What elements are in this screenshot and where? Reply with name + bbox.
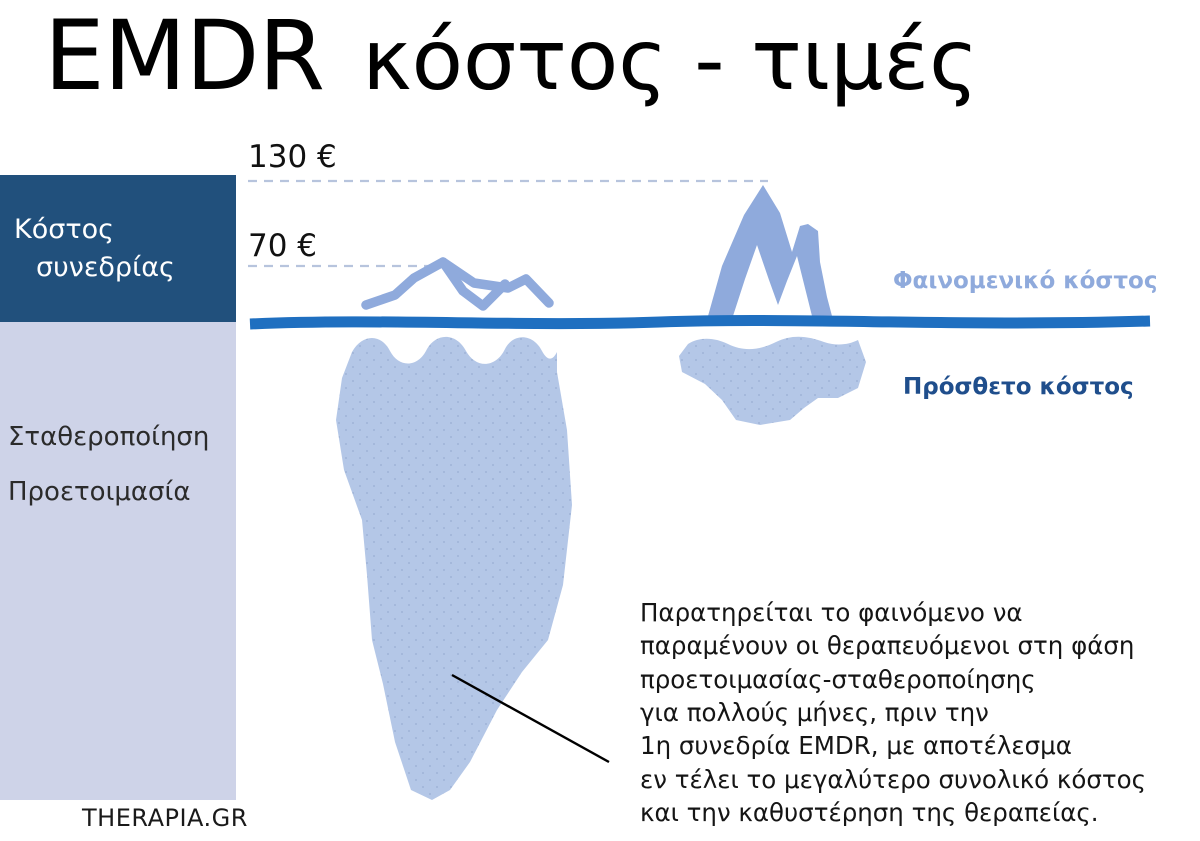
annotation-line-4: για πολλούς μήνες, πριν την — [640, 696, 1180, 729]
phase-panel-line1: Σταθεροποίηση — [8, 422, 209, 452]
cost-panel-line1: Κόστος — [14, 211, 236, 248]
legend-extra-cost: Πρόσθετο κόστος — [903, 374, 1134, 400]
annotation-line-6: εν τέλει το μεγαλύτερο συνολικό κόστος — [640, 763, 1180, 796]
phase-panel-line2: Προετοιμασία — [8, 477, 190, 507]
left-iceberg-submerged — [336, 337, 572, 800]
axis-tick-70: 70 € — [248, 228, 317, 264]
right-iceberg-tip — [708, 185, 832, 316]
waterline — [250, 321, 1150, 324]
phase-panel: Σταθεροποίηση Προετοιμασία — [0, 322, 236, 800]
annotation-line-2: παραμένουν οι θεραπευόμενοι στη φάση — [640, 629, 1180, 662]
right-iceberg-submerged — [679, 337, 866, 425]
cost-panel-line2: συνεδρίας — [14, 249, 236, 286]
annotation-text: Παρατηρείται το φαινόμενο να παραμένουν … — [640, 596, 1180, 829]
annotation-line-5: 1η συνεδρία EMDR, με αποτέλεσμα — [640, 729, 1180, 762]
title-main: EMDR — [44, 8, 324, 104]
page-title: EMDR κόστος - τιμές — [44, 8, 978, 104]
watermark-brand: THERAPIA.GR — [82, 804, 248, 832]
cost-panel: Κόστος συνεδρίας — [0, 175, 236, 322]
annotation-line-1: Παρατηρείται το φαινόμενο να — [640, 596, 1180, 629]
axis-tick-130: 130 € — [248, 139, 337, 175]
title-subtitle: κόστος - τιμές — [362, 18, 978, 102]
annotation-line-7: και την καθυστέρηση της θεραπείας. — [640, 796, 1180, 829]
legend-apparent-cost: Φαινομενικό κόστος — [893, 268, 1157, 294]
infographic-canvas: EMDR κόστος - τιμές Κόστος συνεδρίας Στα… — [0, 0, 1200, 841]
annotation-line-3: προετοιμασίας-σταθεροποίησης — [640, 663, 1180, 696]
